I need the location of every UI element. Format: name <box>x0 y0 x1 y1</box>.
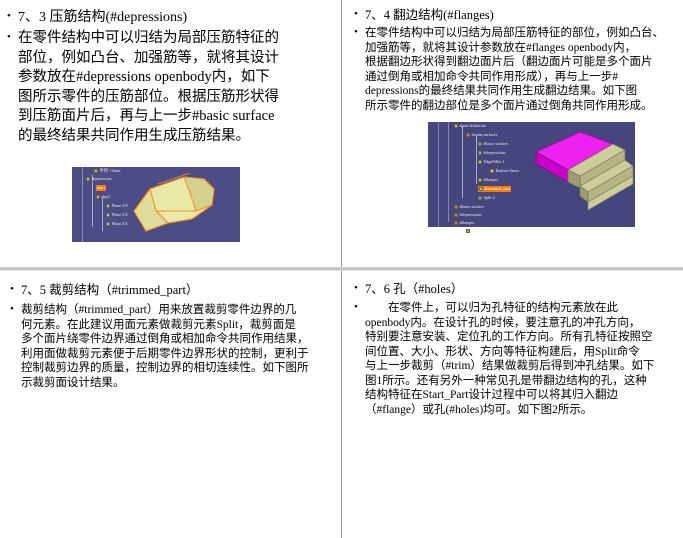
body-line: （#flange）或孔(#holes)均可。如下图2所示。 <box>365 404 592 416</box>
body-line: 根据翻边形状得到翻边面片后（翻边面片可能是多个面片 <box>365 56 653 68</box>
slide-title: 7、6 孔（#holes） <box>352 281 683 297</box>
body-line: 在零件结构中可以归结为局部压筋特征的 <box>18 30 279 46</box>
body-line: 图所示零件的压筋部位。根据压筋形状得 <box>18 89 279 105</box>
body-line: 与上一步裁剪（#trim）结果做裁剪后得到冲孔结果。如下 <box>365 360 654 372</box>
bullet-list: 7、3 压筋结构(#depressions) 在零件结构中可以归结为局部压筋特征… <box>5 9 341 146</box>
body-line: 所示零件的翻边部位是多个面片通过倒角共同作用形成。 <box>365 100 653 112</box>
depression-3d-model <box>72 167 240 242</box>
tree-node-icon <box>466 229 470 233</box>
slide-body: 在零件结构中可以归结为局部压筋特征的部位，例如凸台、 加强筋等，就将其设计参数放… <box>352 26 683 113</box>
body-line: 利用面做裁剪元素便于后期零件边界形状的控制，更利于 <box>21 348 309 360</box>
flange-3d-model <box>428 122 635 227</box>
body-line: 在零件上，可以归为孔特征的结构元素放在此 <box>365 301 618 316</box>
body-line: 在零件结构中可以归结为局部压筋特征的部位，例如凸台、 <box>365 27 664 39</box>
bullet-list: 7、6 孔（#holes） 在零件上，可以归为孔特征的结构元素放在此 openb… <box>352 281 683 417</box>
body-line: 裁剪结构（#trimmed_part）用来放置裁剪零件边界的几 <box>21 304 296 316</box>
slide-title: 7、4 翻边结构(#flanges) <box>352 7 683 23</box>
body-line: 示裁剪面设计结果。 <box>21 377 125 389</box>
slide-title: 7、5 裁剪结构（#trimmed_part） <box>8 282 341 298</box>
body-line: 通过倒角或相加命令共同作用形成），再与上一步# <box>365 71 618 83</box>
body-line: 间位置、大小、形状、方向等特征构建后，用Split命令 <box>365 346 640 358</box>
depressions-cad-screenshot: 半径 =5mm depressions dep1 dep2 Plane.XY P… <box>72 167 240 242</box>
body-line-with-icon: 何元素。在此建议用面元素做裁剪元素Split，裁剪面是 <box>21 319 296 331</box>
slide-panel-7-4[interactable]: 7、4 翻边结构(#flanges) 在零件结构中可以归结为局部压筋特征的部位，… <box>342 0 683 267</box>
body-line: 到压筋面片后，再与上一步#basic surface <box>18 108 275 124</box>
slide-panel-7-5[interactable]: 7、5 裁剪结构（#trimmed_part） 裁剪结构（#trimmed_pa… <box>0 271 341 538</box>
body-line: 图1所示。还有另外一种常见孔是带翻边结构的孔，这种 <box>365 375 647 387</box>
slide-panel-7-6[interactable]: 7、6 孔（#holes） 在零件上，可以归为孔特征的结构元素放在此 openb… <box>342 271 683 538</box>
bullet-list: 7、4 翻边结构(#flanges) 在零件结构中可以归结为局部压筋特征的部位，… <box>352 7 683 113</box>
body-line: 控制裁剪边界的质量，控制边界的相切连续性。如下图所 <box>21 362 309 374</box>
slide-body: 裁剪结构（#trimmed_part）用来放置裁剪零件边界的几 何元素。在此建议… <box>8 303 341 390</box>
bullet-list: 7、5 裁剪结构（#trimmed_part） 裁剪结构（#trimmed_pa… <box>8 282 341 390</box>
body-line: 加强筋等，就将其设计参数放在#flanges openbody内， <box>365 42 636 54</box>
body-line: 参数放在#depressions openbody内，如下 <box>18 69 270 85</box>
handout-page: 7、3 压筋结构(#depressions) 在零件结构中可以归结为局部压筋特征… <box>0 0 683 538</box>
body-line: 部位，例如凸台、加强筋等，就将其设计 <box>18 50 279 66</box>
slide-title: 7、3 压筋结构(#depressions) <box>5 9 341 26</box>
body-line: openbody内。在设计孔的时候，要注意孔的冲孔方向， <box>365 317 640 329</box>
body-line: depressions的最终结果共同作用生成翻边结果。如下图 <box>365 85 637 97</box>
slide-panel-7-3[interactable]: 7、3 压筋结构(#depressions) 在零件结构中可以归结为局部压筋特征… <box>0 0 341 267</box>
flanges-cad-screenshot: #part definition #main surfaces #basic s… <box>428 122 635 227</box>
body-line: 结构特征在Start_Part设计过程中可以将其归入翻边 <box>365 389 618 401</box>
tree-node[interactable]: Face (3) <box>466 228 486 234</box>
body-line: 多个面片绕零件边界通过倒角或相加命令共同作用结果， <box>21 333 309 345</box>
slide-body: 在零件上，可以归为孔特征的结构元素放在此 openbody内。在设计孔的时候，要… <box>352 301 683 417</box>
slide-body: 在零件结构中可以归结为局部压筋特征的 部位，例如凸台、加强筋等，就将其设计 参数… <box>5 29 341 146</box>
body-line: 的最终结果共同作用生成压筋结果。 <box>18 128 250 144</box>
body-line: 特别要注意安装、定位孔的工作方向。所有孔特征按照空 <box>365 331 653 343</box>
